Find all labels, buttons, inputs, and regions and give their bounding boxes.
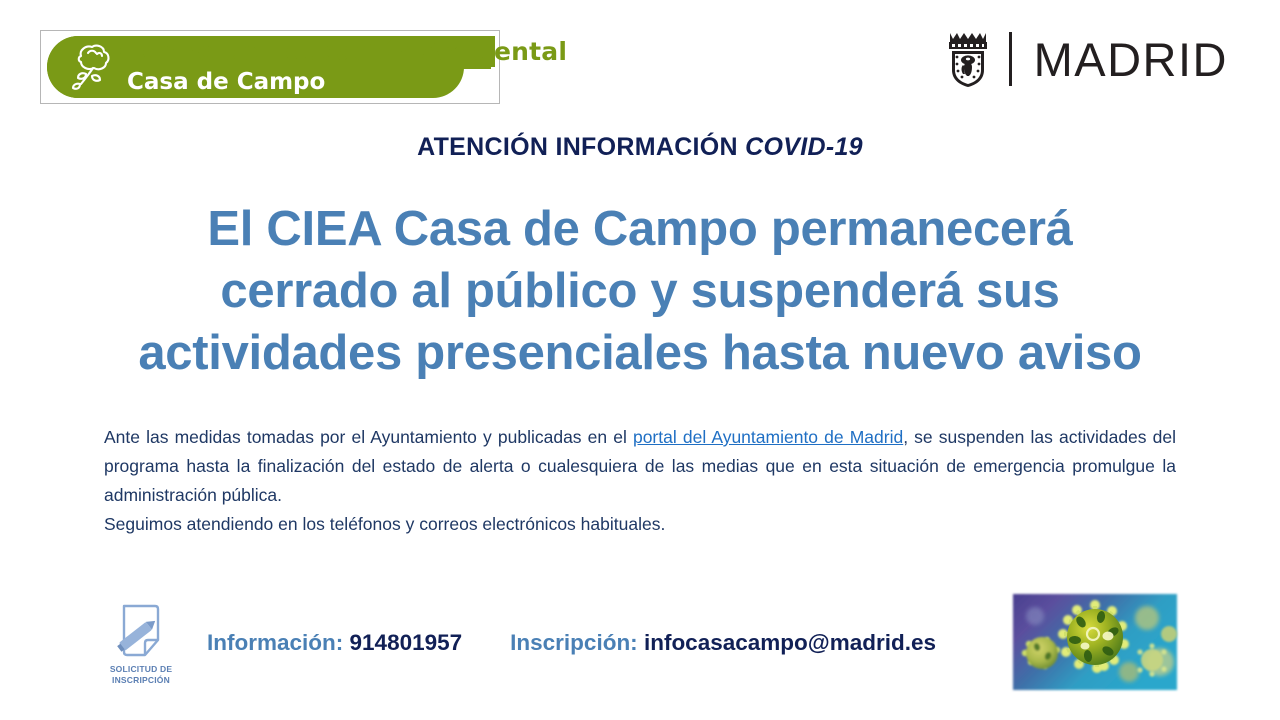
madrid-wordmark: MADRID <box>1034 36 1228 83</box>
informacion-label: Información: <box>207 630 343 655</box>
cea-logo-pill: Centro de Educación Ambiental Casa de Ca… <box>47 36 495 98</box>
madrid-coat-of-arms-icon <box>945 30 991 88</box>
page-header: Centro de Educación Ambiental Casa de Ca… <box>0 0 1280 115</box>
paragraph-2: Seguimos atendiendo en los teléfonos y c… <box>104 510 1176 539</box>
inscription-caption: SOLICITUD DE INSCRIPCIÓN <box>100 664 182 686</box>
madrid-logo-divider <box>1009 32 1012 86</box>
coronavirus-illustration <box>1009 590 1181 694</box>
attention-line: ATENCIÓN INFORMACIÓN COVID-19 <box>0 133 1280 162</box>
paragraph-1: Ante las medidas tomadas por el Ayuntami… <box>104 423 1176 510</box>
covid-label: COVID-19 <box>745 133 863 161</box>
contact-row: Información: 914801957Inscripción: infoc… <box>207 630 936 656</box>
cea-logo-line1: Centro de Educación Ambiental <box>119 37 567 66</box>
inscripcion-email[interactable]: infocasacampo@madrid.es <box>644 630 936 655</box>
cea-logo-line2: Casa de Campo <box>127 69 325 95</box>
solicitud-inscripcion-icon <box>111 600 171 662</box>
body-copy: Ante las medidas tomadas por el Ayuntami… <box>104 423 1176 539</box>
madrid-logo: MADRID <box>945 28 1228 90</box>
inscripcion-label: Inscripción: <box>510 630 638 655</box>
headline-line-1: El CIEA Casa de Campo permanecerá <box>40 198 1240 260</box>
inscription-form-badge[interactable]: SOLICITUD DE INSCRIPCIÓN <box>100 600 182 686</box>
portal-ayuntamiento-link[interactable]: portal del Ayuntamiento de Madrid <box>633 427 903 447</box>
tree-leaf-icon <box>61 40 117 96</box>
cea-casa-de-campo-logo: Centro de Educación Ambiental Casa de Ca… <box>40 30 500 104</box>
headline-line-3: actividades presenciales hasta nuevo avi… <box>40 322 1240 384</box>
informacion-phone[interactable]: 914801957 <box>350 630 463 655</box>
page-title: El CIEA Casa de Campo permanecerá cerrad… <box>40 198 1240 384</box>
inscription-caption-line2: INSCRIPCIÓN <box>100 675 182 686</box>
attention-prefix: ATENCIÓN INFORMACIÓN <box>417 133 745 161</box>
headline-line-2: cerrado al público y suspenderá sus <box>40 260 1240 322</box>
inscription-caption-line1: SOLICITUD DE <box>100 664 182 675</box>
paragraph-1-before-link: Ante las medidas tomadas por el Ayuntami… <box>104 427 633 447</box>
